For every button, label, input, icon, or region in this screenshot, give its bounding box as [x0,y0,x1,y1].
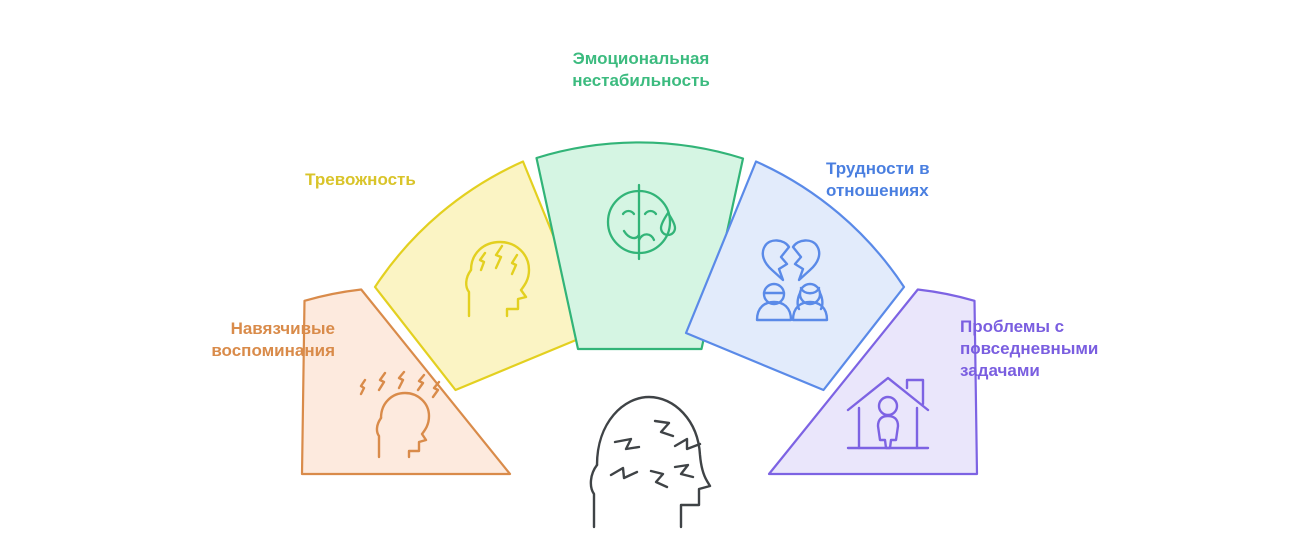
segment-label-daily: Проблемы с повседневными задачами [960,316,1180,381]
segment-label-emotional: Эмоциональная нестабильность [511,48,771,92]
segment-label-relations: Трудности в отношениях [826,158,1014,202]
segment-label-memories: Навязчивые воспоминания [140,318,335,362]
segment-label-anxiety: Тревожность [258,169,463,191]
diagram-canvas: Навязчивые воспоминания Тревожность Эмоц… [0,0,1300,546]
head-with-chaotic-thoughts-icon [591,397,710,527]
